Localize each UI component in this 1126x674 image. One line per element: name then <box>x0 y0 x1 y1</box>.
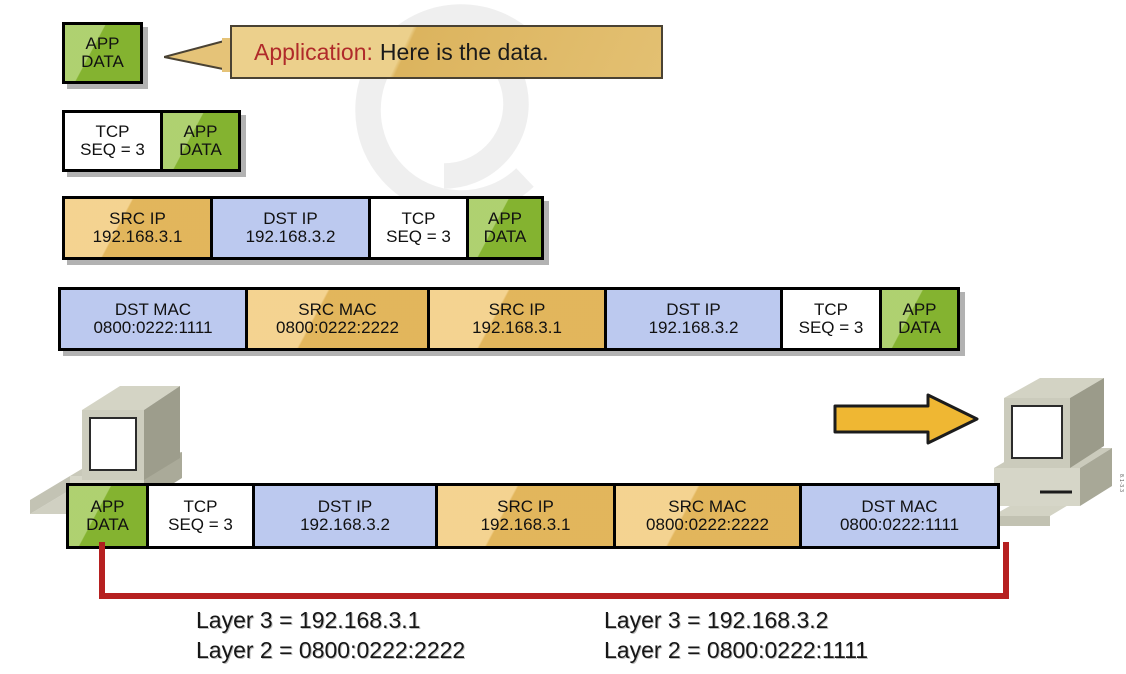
field-line2: 192.168.3.1 <box>472 319 562 337</box>
field-line1: TCP <box>96 123 130 141</box>
caption-left-layer3: Layer 3 = 192.168.3.1 <box>196 606 465 636</box>
field-line1: DST MAC <box>115 301 191 319</box>
field-line1: APP <box>902 301 936 319</box>
caption-right-host: Layer 3 = 192.168.3.2 Layer 2 = 0800:022… <box>604 606 868 666</box>
field-app-data: APP DATA <box>163 113 238 169</box>
field-dst-ip: DST IP 192.168.3.2 <box>255 486 438 546</box>
field-src-mac: SRC MAC 0800:0222:2222 <box>248 290 430 348</box>
field-src-ip: SRC IP 192.168.3.1 <box>65 199 213 257</box>
field-line1: APP <box>183 123 217 141</box>
field-line1: SRC IP <box>109 210 166 228</box>
field-line2: 192.168.3.1 <box>481 516 571 534</box>
field-src-mac: SRC MAC 0800:0222:2222 <box>616 486 802 546</box>
field-line1: DST IP <box>666 301 720 319</box>
row-datalink-frame: DST MAC 0800:0222:1111 SRC MAC 0800:0222… <box>58 287 960 351</box>
field-line1: SRC MAC <box>668 498 746 516</box>
field-line1: APP <box>90 498 124 516</box>
field-line2: 192.168.3.2 <box>246 228 336 246</box>
field-tcp-header: TCP SEQ = 3 <box>149 486 255 546</box>
caption-left-host: Layer 3 = 192.168.3.1 Layer 2 = 0800:022… <box>196 606 465 666</box>
field-line2: SEQ = 3 <box>799 319 864 337</box>
field-line2: SEQ = 3 <box>168 516 233 534</box>
caption-left-layer2: Layer 2 = 0800:0222:2222 <box>196 636 465 666</box>
field-tcp-header: TCP SEQ = 3 <box>371 199 469 257</box>
field-app-data: APP DATA <box>469 199 541 257</box>
field-line1: SRC IP <box>489 301 546 319</box>
field-tcp-header: TCP SEQ = 3 <box>783 290 882 348</box>
caption-right-layer3: Layer 3 = 192.168.3.2 <box>604 606 868 636</box>
field-line1: DST MAC <box>861 498 937 516</box>
field-src-ip: SRC IP 192.168.3.1 <box>438 486 616 546</box>
field-line1: TCP <box>402 210 436 228</box>
field-tcp-header: TCP SEQ = 3 <box>65 113 163 169</box>
field-dst-mac: DST MAC 0800:0222:1111 <box>802 486 997 546</box>
field-line2: SEQ = 3 <box>80 141 145 159</box>
row-transport-pdu: TCP SEQ = 3 APP DATA <box>62 110 241 172</box>
field-line1: TCP <box>184 498 218 516</box>
callout-tail <box>164 38 234 72</box>
field-line2: 0800:0222:2222 <box>276 319 399 337</box>
field-line2: 192.168.3.2 <box>300 516 390 534</box>
field-line1: APP <box>85 35 119 53</box>
diagram-canvas: APP DATA Application: Here is the data. … <box>0 0 1126 674</box>
field-line2: 0800:0222:2222 <box>646 516 769 534</box>
field-line2: 192.168.3.2 <box>649 319 739 337</box>
field-line2: DATA <box>898 319 941 337</box>
field-dst-ip: DST IP 192.168.3.2 <box>607 290 783 348</box>
field-line1: DST IP <box>318 498 372 516</box>
callout-label: Application: <box>254 39 373 66</box>
callout-application: Application: Here is the data. <box>230 25 663 79</box>
field-src-ip: SRC IP 192.168.3.1 <box>430 290 607 348</box>
field-dst-mac: DST MAC 0800:0222:1111 <box>61 290 248 348</box>
field-line2: 192.168.3.1 <box>93 228 183 246</box>
field-app-data: APP DATA <box>882 290 957 348</box>
field-line1: TCP <box>814 301 848 319</box>
field-line2: DATA <box>179 141 222 159</box>
field-app-data: APP DATA <box>65 25 140 81</box>
field-line2: 0800:0222:1111 <box>840 516 959 534</box>
field-line2: DATA <box>86 516 129 534</box>
field-dst-ip: DST IP 192.168.3.2 <box>213 199 371 257</box>
field-line1: SRC MAC <box>298 301 376 319</box>
field-line1: APP <box>488 210 522 228</box>
field-line2: 0800:0222:1111 <box>93 319 212 337</box>
transmission-direction-arrow <box>832 392 980 446</box>
row-wire-frame: APP DATA TCP SEQ = 3 DST IP 192.168.3.2 … <box>66 483 1000 549</box>
figure-id-label: 8.1-3.3 <box>1118 474 1124 492</box>
field-line1: SRC IP <box>497 498 554 516</box>
field-app-data: APP DATA <box>69 486 149 546</box>
field-line2: SEQ = 3 <box>386 228 451 246</box>
caption-right-layer2: Layer 2 = 0800:0222:1111 <box>604 636 868 666</box>
field-line2: DATA <box>81 53 124 71</box>
field-line1: DST IP <box>263 210 317 228</box>
row-network-pdu: SRC IP 192.168.3.1 DST IP 192.168.3.2 TC… <box>62 196 544 260</box>
callout-text: Here is the data. <box>380 39 549 66</box>
row-application-pdu: APP DATA <box>62 22 143 84</box>
field-line2: DATA <box>484 228 527 246</box>
